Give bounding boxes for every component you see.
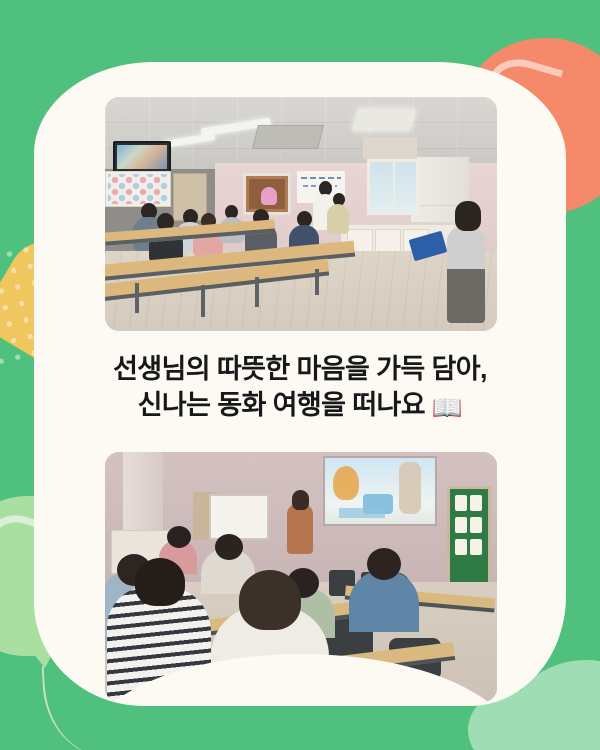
content-card: 선생님의 따뜻한 마음을 가득 담아, 신나는 동화 여행을 떠나요 📖 — [34, 62, 566, 706]
caption-line-2: 신나는 동화 여행을 떠나요 — [138, 390, 425, 420]
caption-line-2-wrap: 신나는 동화 여행을 떠나요 📖 — [52, 388, 548, 425]
poster-canvas: 선생님의 따뜻한 마음을 가득 담아, 신나는 동화 여행을 떠나요 📖 — [0, 0, 600, 750]
photo-classroom-projector — [105, 452, 497, 702]
photo-training-room-lecture — [105, 97, 497, 331]
open-book-icon: 📖 — [432, 394, 463, 422]
caption-line-1: 선생님의 따뜻한 마음을 가득 담아, — [52, 352, 548, 388]
caption-text: 선생님의 따뜻한 마음을 가득 담아, 신나는 동화 여행을 떠나요 📖 — [34, 352, 566, 425]
